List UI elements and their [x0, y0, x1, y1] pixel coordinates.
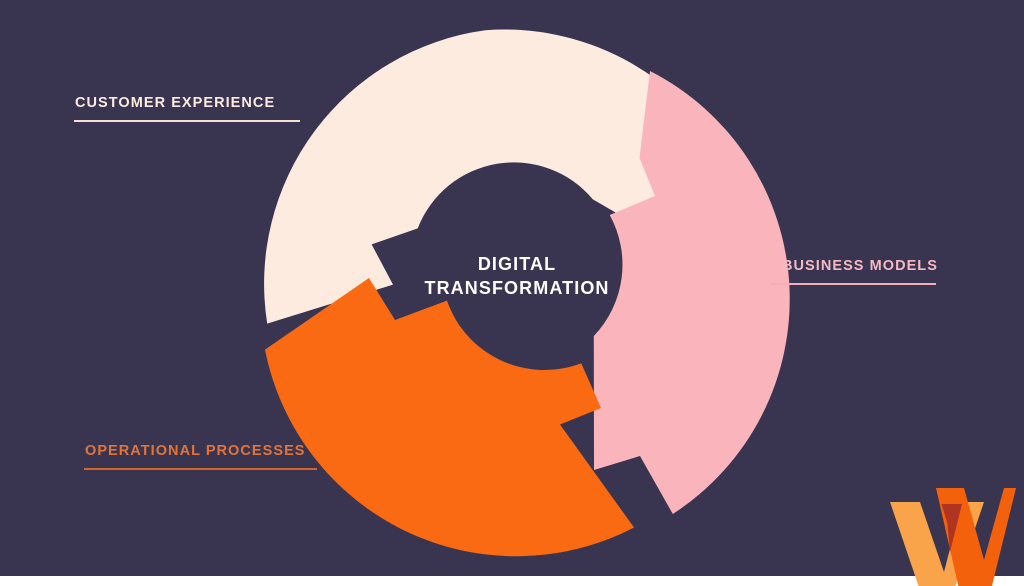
callout-label-operational-processes: OPERATIONAL PROCESSES — [84, 443, 317, 459]
callout-label-business-models: BUSINESS MODELS — [770, 258, 936, 274]
callout-business-models[interactable]: BUSINESS MODELS — [770, 258, 936, 285]
center-title: DIGITAL TRANSFORMATION — [417, 253, 617, 301]
callout-customer-experience[interactable]: CUSTOMER EXPERIENCE — [74, 95, 300, 122]
center-title-line2: TRANSFORMATION — [424, 278, 609, 298]
center-title-line1: DIGITAL — [478, 254, 556, 274]
segment-operational-processes[interactable] — [265, 278, 634, 556]
w-monogram-logo[interactable] — [884, 486, 1016, 586]
callout-operational-processes[interactable]: OPERATIONAL PROCESSES — [84, 443, 317, 470]
callout-rule-business-models — [770, 283, 936, 285]
callout-rule-operational-processes — [84, 468, 317, 470]
callout-rule-customer-experience — [74, 120, 300, 122]
callout-label-customer-experience: CUSTOMER EXPERIENCE — [74, 95, 300, 111]
slide-canvas: DIGITAL TRANSFORMATION CUSTOMER EXPERIEN… — [0, 0, 1024, 576]
